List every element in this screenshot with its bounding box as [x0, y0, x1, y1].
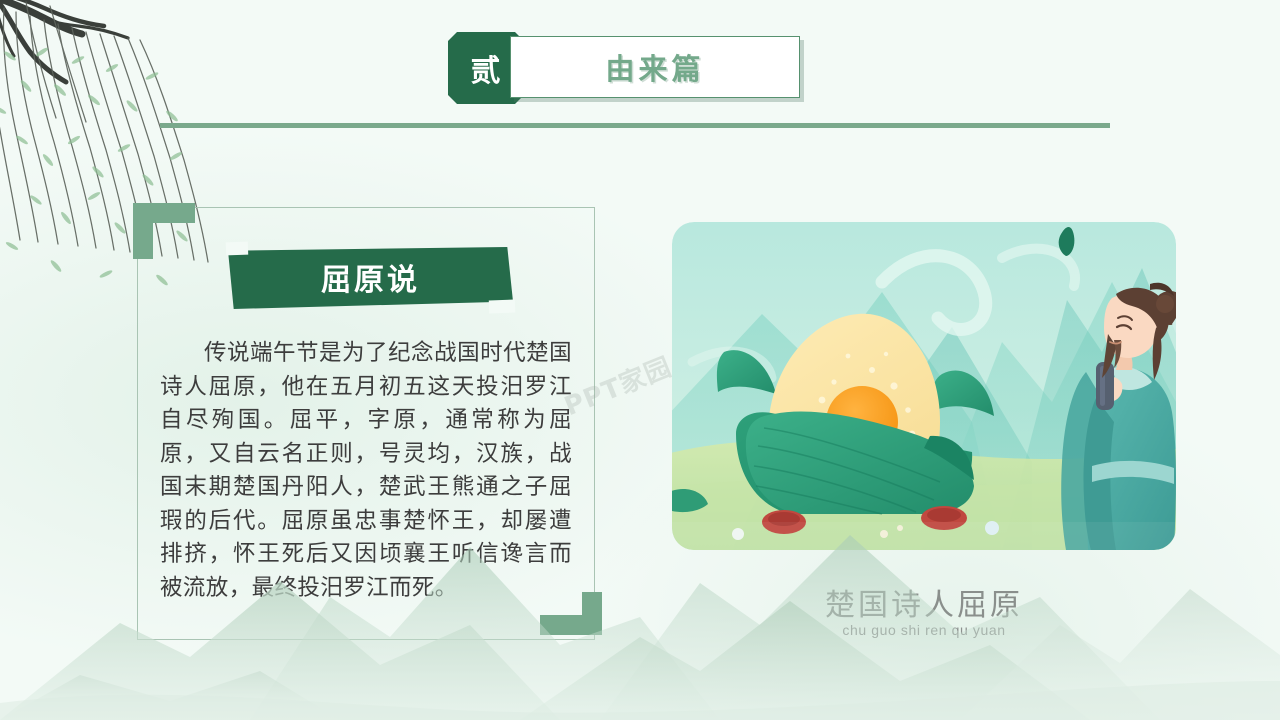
illustration-caption-pinyin: chu guo shi ren qu yuan	[672, 622, 1176, 638]
illustration-caption-chinese: 楚国诗人屈原	[672, 580, 1176, 624]
corner-bracket-top-left-vertical	[133, 203, 153, 259]
slide: 贰 由来篇 屈原说 传说端午节是为了纪念战国时代楚国诗人屈原，他在五月初五这天投…	[0, 0, 1280, 720]
section-title-text: 由来篇	[605, 46, 704, 88]
content-title-banner: 屈原说	[228, 247, 513, 309]
section-title-box: 由来篇	[510, 36, 800, 98]
body-paragraph: 传说端午节是为了纪念战国时代楚国诗人屈原，他在五月初五这天投汨罗江自尽殉国。屈平…	[160, 337, 572, 605]
zongzi-qu-yuan-illustration	[672, 222, 1176, 550]
banner-title-text: 屈原说	[228, 247, 513, 309]
corner-bracket-bottom-right-vertical	[582, 592, 602, 635]
illustration-card	[672, 222, 1176, 550]
header-divider-rule	[160, 123, 1110, 128]
